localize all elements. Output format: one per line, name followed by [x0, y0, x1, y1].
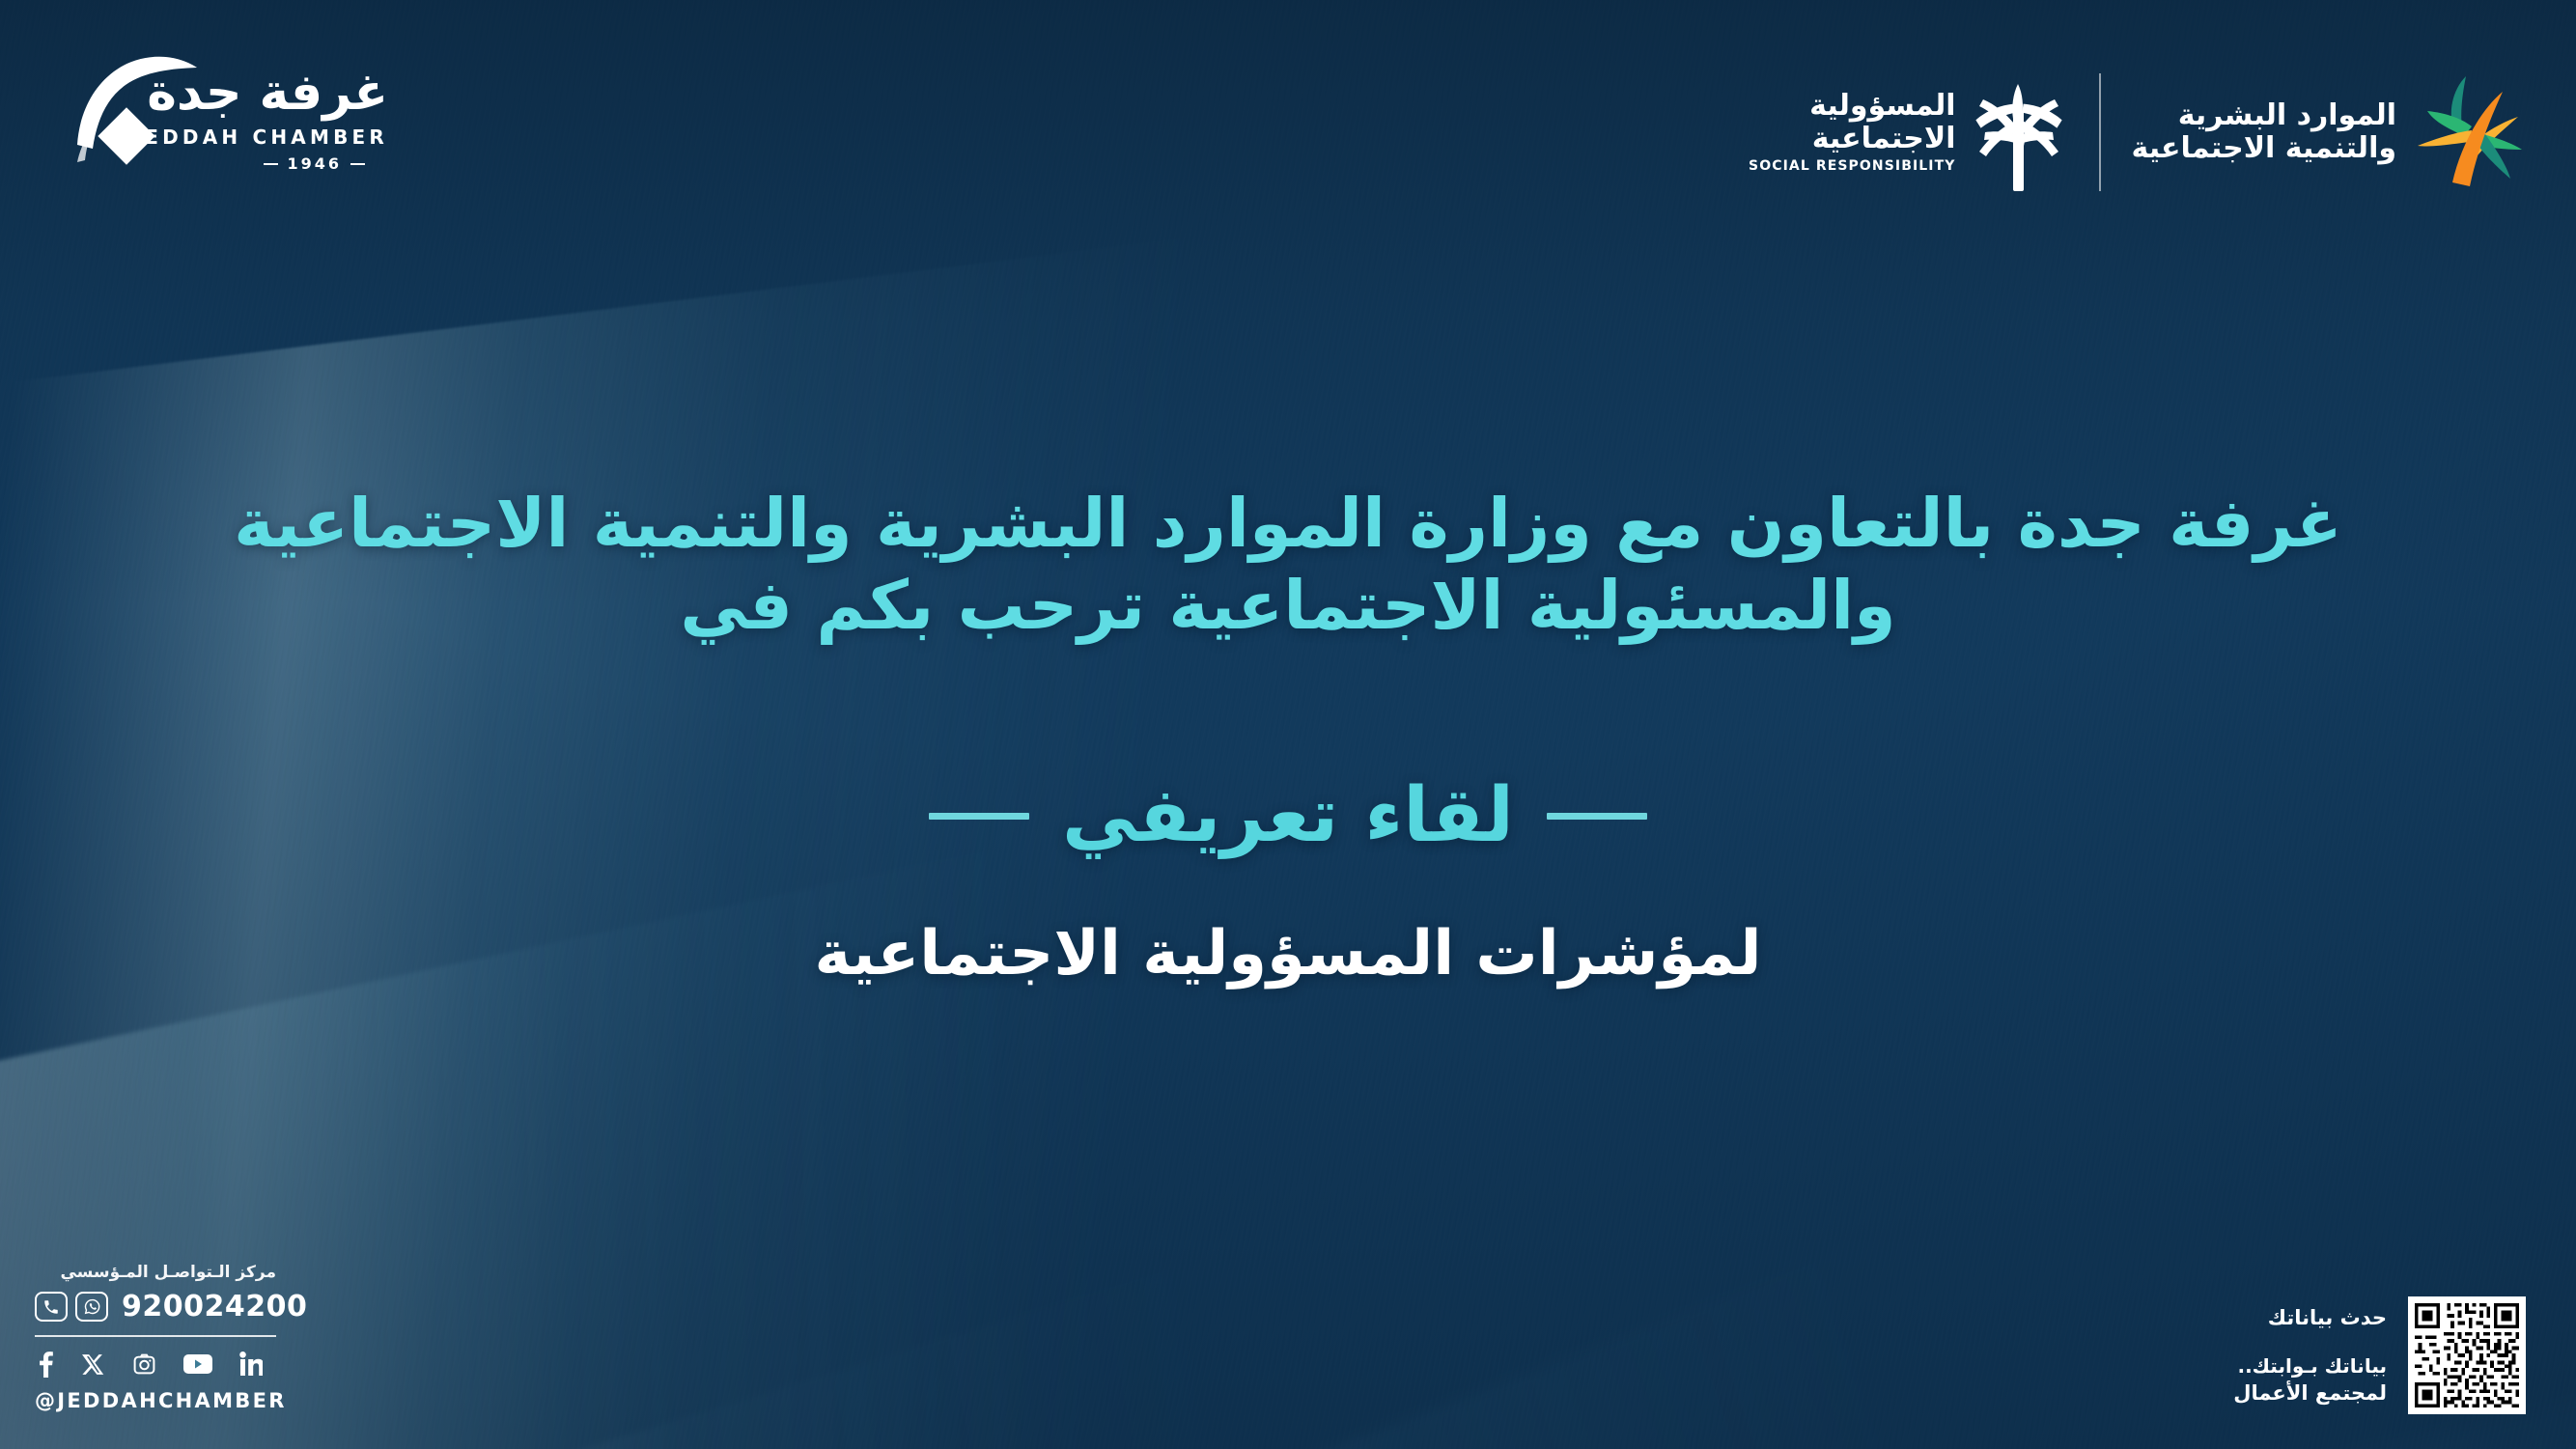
year-dash-left	[264, 163, 278, 165]
jeddah-chamber-year: 1946	[264, 154, 365, 173]
qr-text: حدث بياناتك بياناتك بـوابتك.. لمجتمع الأ…	[2233, 1306, 2387, 1405]
year-value: 1946	[287, 154, 342, 173]
whatsapp-icon[interactable]	[75, 1292, 108, 1322]
partner-logos: المسؤولية الاجتماعية SOCIAL RESPONSIBILI…	[1749, 60, 2526, 205]
qr-block: حدث بياناتك بياناتك بـوابتك.. لمجتمع الأ…	[2233, 1296, 2526, 1414]
hrsd-logo: الموارد البشرية والتنمية الاجتماعية	[2132, 70, 2526, 194]
background-vignette	[0, 0, 2576, 1449]
phone-number[interactable]: 920024200	[122, 1290, 307, 1324]
hrsd-star-emblem-icon	[2410, 70, 2526, 194]
social-links	[35, 1351, 324, 1378]
contact-center-label: مركز الـتواصـل المـؤسسي	[35, 1263, 276, 1282]
event-banner: غرفة جدة JEDDAH CHAMBER 1946 المسؤولية ا…	[0, 0, 2576, 1449]
social-responsibility-english: SOCIAL RESPONSIBILITY	[1749, 159, 1956, 175]
palm-tree-icon	[1970, 72, 2068, 193]
facebook-icon[interactable]	[38, 1351, 54, 1378]
hrsd-arabic-line2: والتنمية الاجتماعية	[2132, 132, 2396, 165]
x-twitter-icon[interactable]	[81, 1352, 105, 1377]
social-responsibility-arabic-line2: الاجتماعية	[1749, 123, 1956, 155]
social-responsibility-logo: المسؤولية الاجتماعية SOCIAL RESPONSIBILI…	[1749, 72, 2068, 193]
instagram-icon[interactable]	[132, 1352, 156, 1377]
social-responsibility-arabic-line1: المسؤولية	[1749, 90, 1956, 123]
phone-handset-icon[interactable]	[35, 1292, 68, 1322]
social-responsibility-text: المسؤولية الاجتماعية SOCIAL RESPONSIBILI…	[1749, 90, 1956, 175]
event-type-rule-left	[929, 813, 1029, 820]
headline-line-1: غرفة جدة بالتعاون مع وزارة الموارد البشر…	[222, 483, 2354, 565]
youtube-icon[interactable]	[183, 1353, 212, 1375]
headline-line-2: والمسئولية الاجتماعية ترحب بكم في	[222, 565, 2354, 647]
event-type-rule-right	[1547, 813, 1647, 820]
jeddah-chamber-english-name: JEDDAH CHAMBER	[134, 125, 388, 149]
hrsd-arabic-line1: الموارد البشرية	[2132, 99, 2396, 132]
linkedin-icon[interactable]	[239, 1351, 263, 1377]
headline: غرفة جدة بالتعاون مع وزارة الموارد البشر…	[0, 483, 2576, 648]
contact-divider	[35, 1335, 276, 1337]
qr-code-matrix	[2415, 1303, 2519, 1407]
social-handle[interactable]: @JEDDAHCHAMBER	[35, 1389, 324, 1412]
qr-line-1: حدث بياناتك	[2233, 1306, 2387, 1329]
event-subject: لمؤشرات المسؤولية الاجتماعية	[0, 917, 2576, 991]
contact-block: مركز الـتواصـل المـؤسسي 920024200	[35, 1263, 324, 1412]
qr-line-3: لمجتمع الأعمال	[2233, 1381, 2387, 1405]
hrsd-text: الموارد البشرية والتنمية الاجتماعية	[2132, 99, 2396, 164]
phone-row: 920024200	[35, 1290, 324, 1324]
logo-divider	[2099, 73, 2101, 191]
qr-line-2: بياناتك بـوابتك..	[2233, 1354, 2387, 1378]
event-type: لقاء تعريفي	[1062, 778, 1514, 853]
jeddah-chamber-arabic-name: غرفة جدة	[147, 68, 388, 118]
jeddah-chamber-logo: غرفة جدة JEDDAH CHAMBER 1946	[56, 37, 394, 172]
year-dash-right	[350, 163, 365, 165]
qr-code-icon[interactable]	[2408, 1296, 2526, 1414]
event-type-row: لقاء تعريفي	[0, 778, 2576, 853]
